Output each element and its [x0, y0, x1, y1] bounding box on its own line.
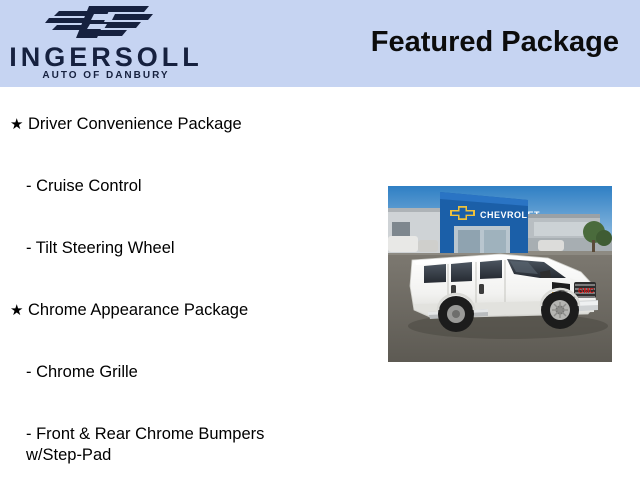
feature-label: - Tilt Steering Wheel — [26, 238, 175, 259]
page-title: Featured Package — [371, 22, 619, 62]
feature-sub-item: - Front & Rear Chrome Bumpers w/Step-Pad — [0, 424, 406, 466]
feature-item: ★Driver Convenience Package — [0, 114, 390, 135]
feature-item: ★Chrome Appearance Package — [0, 300, 390, 321]
feature-label: Chrome Appearance Package — [28, 300, 248, 321]
dealer-logo: INGERSOLL AUTO OF DANBURY — [0, 0, 210, 87]
gmc-savana-cargo-van-photo: CHEVROLET — [388, 186, 612, 362]
feature-label: - Front & Rear Chrome Bumpers w/Step-Pad — [26, 424, 264, 466]
ingersoll-winged-i-emblem-icon — [45, 4, 153, 40]
star-bullet-icon: ★ — [10, 300, 28, 321]
dealer-tagline: AUTO OF DANBURY — [8, 70, 204, 81]
feature-label: - Chrome Grille — [26, 362, 138, 383]
feature-sub-item: - Tilt Steering Wheel — [0, 238, 406, 259]
feature-sub-item: - Cruise Control — [0, 176, 406, 197]
page-header: INGERSOLL AUTO OF DANBURY Featured Packa… — [0, 0, 640, 87]
svg-text:GMC: GMC — [578, 288, 594, 295]
star-bullet-icon: ★ — [10, 114, 28, 135]
dealer-name: INGERSOLL — [8, 43, 204, 71]
feature-label: Driver Convenience Package — [28, 114, 242, 135]
feature-label: - Cruise Control — [26, 176, 142, 197]
feature-sub-item: - Chrome Grille — [0, 362, 406, 383]
